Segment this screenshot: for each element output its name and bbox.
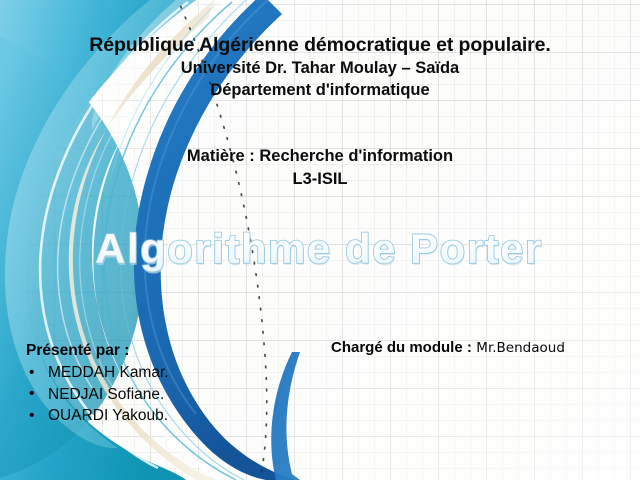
header-line-department: Département d'informatique: [0, 79, 640, 101]
list-item: • MEDDAH Kamar.: [26, 362, 169, 384]
institution-header: République Algérienne démocratique et po…: [0, 33, 640, 101]
presenters-label: Présenté par :: [26, 340, 169, 361]
subject-line-matiere: Matière : Recherche d'information: [0, 145, 640, 168]
supervisor-section: Chargé du module : Mr.Bendaoud: [331, 339, 565, 357]
presenters-list: • MEDDAH Kamar. • NEDJAI Sofiane. • OUAR…: [26, 362, 169, 427]
list-item: • NEDJAI Sofiane.: [26, 384, 169, 406]
bullet-icon: •: [29, 383, 34, 405]
presenter-name: OUARDI Yakoub.: [48, 407, 168, 424]
presentation-slide: République Algérienne démocratique et po…: [0, 0, 640, 480]
presenter-name: MEDDAH Kamar.: [48, 364, 169, 381]
main-title-wordart: Algorithme de Porter Algorithme de Porte…: [0, 224, 640, 280]
course-subject: Matière : Recherche d'information L3-ISI…: [0, 145, 640, 191]
supervisor-name: Mr.Bendaoud: [476, 340, 565, 356]
list-item: • OUARDI Yakoub.: [26, 405, 169, 427]
supervisor-label: Chargé du module :: [331, 339, 472, 356]
presenter-name: NEDJAI Sofiane.: [48, 386, 164, 403]
subject-line-level: L3-ISIL: [0, 168, 640, 191]
main-title-text: Algorithme de Porter: [95, 225, 543, 272]
bullet-icon: •: [29, 362, 34, 384]
header-line-university: Université Dr. Tahar Moulay – Saïda: [0, 57, 640, 79]
presenters-section: Présenté par : • MEDDAH Kamar. • NEDJAI …: [26, 340, 169, 427]
bullet-icon: •: [29, 405, 34, 427]
header-line-country: République Algérienne démocratique et po…: [0, 33, 640, 57]
main-title: Algorithme de Porter Algorithme de Porte…: [0, 224, 640, 280]
